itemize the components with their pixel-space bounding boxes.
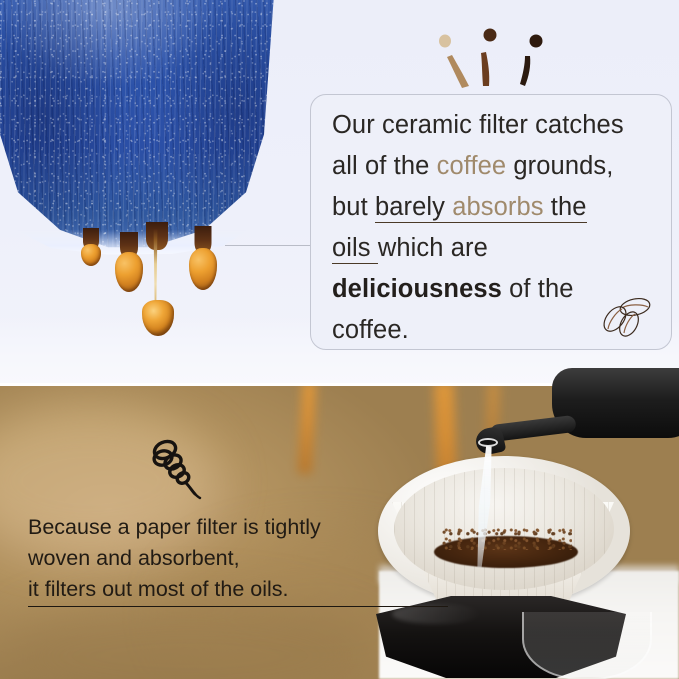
top-panel: Our ceramic filter catches all of the co… bbox=[0, 0, 679, 386]
drip-bulb bbox=[81, 244, 101, 266]
bottom-caption-line-3: it filters out most of the oils. bbox=[28, 574, 448, 607]
infographic-canvas: Our ceramic filter catches all of the co… bbox=[0, 0, 679, 679]
bottom-caption-line-2: woven and absorbent, bbox=[28, 543, 448, 574]
drip-stroke-medium bbox=[481, 52, 489, 86]
coffee-drip-2 bbox=[112, 232, 146, 298]
drip-dot-light bbox=[439, 35, 451, 48]
stand-gloss-highlight bbox=[392, 604, 482, 624]
coffee-grounds-specks bbox=[442, 528, 572, 550]
ceramic-cone-speckle bbox=[0, 0, 282, 256]
coffee-beans-doodle-icon bbox=[595, 293, 659, 339]
drip-bulb bbox=[115, 252, 143, 292]
glass-carafe bbox=[522, 612, 652, 679]
callout-line-5-b: of the bbox=[502, 275, 574, 303]
callout-box: Our ceramic filter catches all of the co… bbox=[310, 94, 672, 350]
callout-word-oils: oils bbox=[332, 234, 378, 264]
drip-marks-decoration bbox=[432, 28, 552, 90]
chair-leg-1 bbox=[298, 386, 317, 474]
callout-line-2-a: all of the bbox=[332, 152, 437, 180]
kettle-spout-rim bbox=[478, 438, 498, 447]
callout-line-3-a: but bbox=[332, 193, 375, 221]
drip-stroke-dark bbox=[520, 56, 530, 86]
callout-line-1: Our ceramic filter catches bbox=[332, 111, 624, 139]
callout-word-coffee: coffee bbox=[437, 152, 507, 180]
callout-line-2-c: grounds, bbox=[506, 152, 613, 180]
bottom-caption: Because a paper filter is tightly woven … bbox=[28, 512, 448, 607]
drip-bulb bbox=[189, 248, 217, 290]
coffee-drip-1 bbox=[78, 228, 104, 272]
callout-word-absorbs: absorbs bbox=[452, 193, 551, 223]
steam-swirl-doodle-icon bbox=[148, 436, 218, 502]
callout-word-the: the bbox=[551, 193, 587, 223]
blue-ceramic-filter-photo bbox=[0, 0, 282, 256]
bottom-caption-line-1: Because a paper filter is tightly bbox=[28, 512, 448, 543]
drip-stroke-light bbox=[447, 55, 469, 88]
callout-line-4-b: which are bbox=[378, 234, 488, 262]
drip-dot-medium bbox=[484, 29, 497, 42]
callout-connector-line bbox=[225, 245, 320, 246]
callout-word-barely: barely bbox=[375, 193, 452, 223]
callout-word-deliciousness: deliciousness bbox=[332, 275, 502, 303]
drip-dot-dark bbox=[530, 35, 543, 48]
callout-line-6: coffee. bbox=[332, 316, 409, 344]
coffee-drip-4 bbox=[186, 226, 220, 294]
